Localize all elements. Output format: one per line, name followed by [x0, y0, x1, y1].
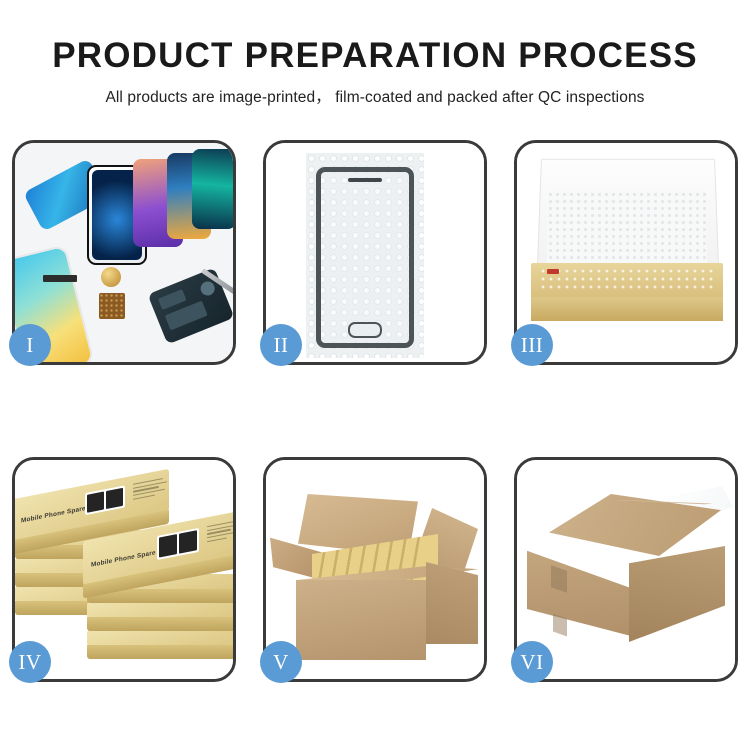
phone-display-teal	[192, 149, 233, 229]
open-carton-image	[266, 460, 484, 679]
red-label-tag	[547, 269, 559, 274]
page-subtitle: All products are image-printed， film-coa…	[0, 76, 750, 107]
retail-box	[87, 630, 233, 646]
process-step-1[interactable]: I	[12, 140, 236, 365]
step-badge-2: II	[260, 324, 302, 366]
stacked-boxes-image: Mobile Phone Spare Parts Mobile Phone Sp…	[15, 460, 233, 679]
screen-in-open-box-image	[517, 143, 735, 362]
phone-parts-collage-image	[15, 143, 233, 362]
process-step-6[interactable]: VI	[514, 457, 738, 682]
page-title: PRODUCT PREPARATION PROCESS	[0, 0, 750, 76]
process-step-2[interactable]: II	[263, 140, 487, 365]
step-badge-4: IV	[9, 641, 51, 683]
bubble-wrap-texture	[306, 153, 424, 358]
carton-left-face	[527, 532, 631, 636]
carton-edge-seal-lower	[553, 613, 567, 636]
box-stack: Mobile Phone Spare Parts Mobile Phone Sp…	[15, 478, 233, 668]
bubble-wrapped-screen-image	[266, 143, 484, 362]
carton-side-wall	[426, 562, 478, 644]
retail-box	[87, 602, 233, 618]
connector-chip-part	[99, 293, 125, 319]
foam-liner	[547, 191, 707, 267]
carton-right-face	[629, 546, 725, 642]
process-row-top: I II	[12, 140, 738, 365]
process-step-4[interactable]: Mobile Phone Spare Parts Mobile Phone Sp…	[12, 457, 236, 682]
home-button-cutout	[348, 322, 382, 338]
step-badge-6: VI	[511, 641, 553, 683]
step-badge-5: V	[260, 641, 302, 683]
carton-front-wall	[296, 580, 426, 660]
earpiece-slot	[348, 178, 382, 182]
kraft-box-body	[531, 263, 723, 321]
process-row-bottom: Mobile Phone Spare Parts Mobile Phone Sp…	[12, 457, 738, 682]
phone-screen-frame	[316, 167, 414, 348]
vibration-motor-part	[101, 267, 121, 287]
process-step-3[interactable]: III	[514, 140, 738, 365]
step-badge-1: I	[9, 324, 51, 366]
flex-cable-part	[43, 275, 77, 282]
sealed-carton-image	[517, 460, 735, 679]
wrapped-screen-in-box	[539, 267, 715, 293]
process-step-5[interactable]: V	[263, 457, 487, 682]
box-front-wall	[531, 297, 723, 321]
step-badge-3: III	[511, 324, 553, 366]
process-grid: I II	[12, 140, 738, 682]
shipping-carton-open	[282, 488, 472, 658]
shipping-carton-sealed	[527, 494, 727, 644]
header: PRODUCT PREPARATION PROCESS All products…	[0, 0, 750, 107]
